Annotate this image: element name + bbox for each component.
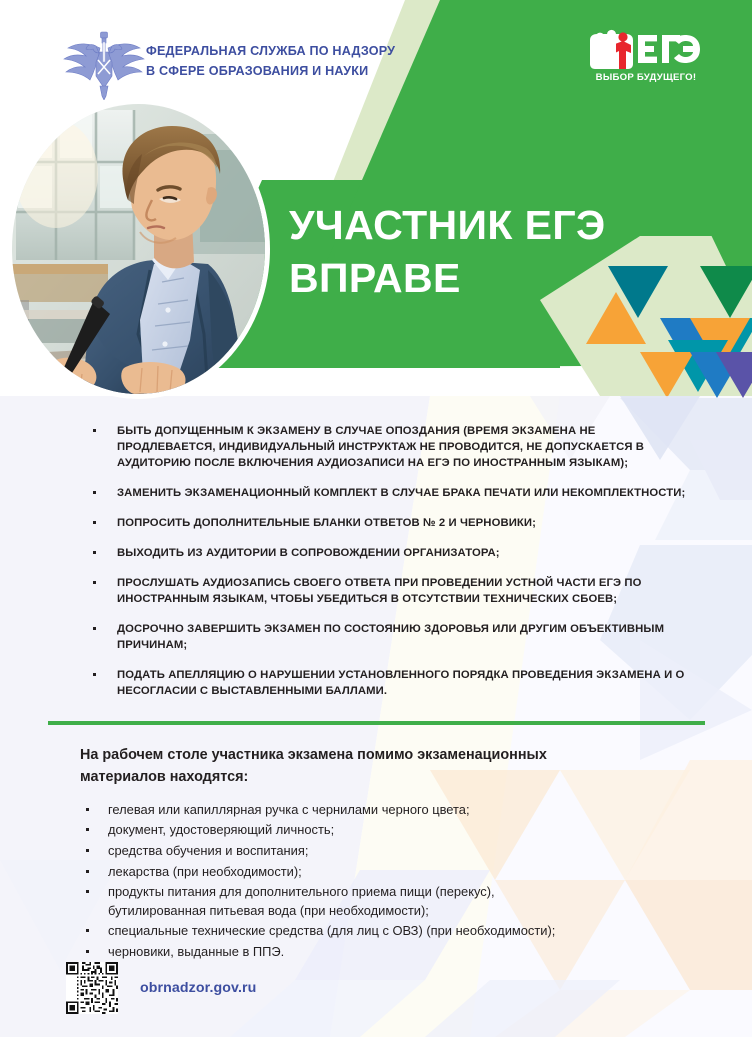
desk-items-list: гелевая или капиллярная ручка с чернилам…	[80, 801, 690, 962]
page-title: УЧАСТНИК ЕГЭ ВПРАВЕ	[289, 199, 606, 306]
list-item: черновики, выданные в ППЭ.	[80, 943, 690, 962]
list-item: ВЫХОДИТЬ ИЗ АУДИТОРИИ В СОПРОВОЖДЕНИИ ОР…	[88, 545, 688, 561]
list-item: ЗАМЕНИТЬ ЭКЗАМЕНАЦИОННЫЙ КОМПЛЕКТ В СЛУЧ…	[88, 485, 688, 501]
section-divider	[48, 721, 705, 725]
poster-footer: obrnadzor.gov.ru	[66, 962, 256, 1014]
website-link[interactable]: obrnadzor.gov.ru	[140, 980, 256, 996]
desk-section-heading: На рабочем столе участника экзамена поми…	[80, 745, 690, 789]
list-item: гелевая или капиллярная ручка с чернилам…	[80, 801, 690, 820]
list-item: продукты питания для дополнительного при…	[80, 883, 690, 920]
list-item: БЫТЬ ДОПУЩЕННЫМ К ЭКЗАМЕНУ В СЛУЧАЕ ОПОЗ…	[88, 423, 688, 471]
list-item: документ, удостоверяющий личность;	[80, 821, 690, 840]
list-item: ПОДАТЬ АПЕЛЛЯЦИЮ О НАРУШЕНИИ УСТАНОВЛЕНН…	[88, 667, 688, 699]
ege-logo-tagline: ВЫБОР БУДУЩЕГО!	[586, 72, 706, 83]
list-item: средства обучения и воспитания;	[80, 842, 690, 861]
student-writing-photo	[12, 104, 265, 394]
ege-logo: ВЫБОР БУДУЩЕГО!	[586, 28, 706, 90]
poster: ФЕДЕРАЛЬНАЯ СЛУЖБА ПО НАДЗОРУ В СФЕРЕ ОБ…	[0, 0, 752, 1037]
rights-list: БЫТЬ ДОПУЩЕННЫМ К ЭКЗАМЕНУ В СЛУЧАЕ ОПОЗ…	[88, 423, 688, 699]
ege-people-icon	[586, 28, 706, 70]
desk-items-section: На рабочем столе участника экзамена поми…	[80, 745, 690, 963]
qr-code-icon[interactable]	[66, 962, 118, 1014]
agency-name: ФЕДЕРАЛЬНАЯ СЛУЖБА ПО НАДЗОРУ В СФЕРЕ ОБ…	[146, 41, 395, 82]
list-item: лекарства (при необходимости);	[80, 863, 690, 882]
double-headed-eagle-emblem-icon	[56, 28, 152, 100]
poster-header: ФЕДЕРАЛЬНАЯ СЛУЖБА ПО НАДЗОРУ В СФЕРЕ ОБ…	[0, 0, 752, 120]
list-item: ДОСРОЧНО ЗАВЕРШИТЬ ЭКЗАМЕН ПО СОСТОЯНИЮ …	[88, 621, 688, 653]
list-item: ПОПРОСИТЬ ДОПОЛНИТЕЛЬНЫЕ БЛАНКИ ОТВЕТОВ …	[88, 515, 688, 531]
list-item: ПРОСЛУШАТЬ АУДИОЗАПИСЬ СВОЕГО ОТВЕТА ПРИ…	[88, 575, 688, 607]
rights-section: БЫТЬ ДОПУЩЕННЫМ К ЭКЗАМЕНУ В СЛУЧАЕ ОПОЗ…	[88, 423, 688, 713]
list-item: специальные технические средства (для ли…	[80, 922, 690, 941]
